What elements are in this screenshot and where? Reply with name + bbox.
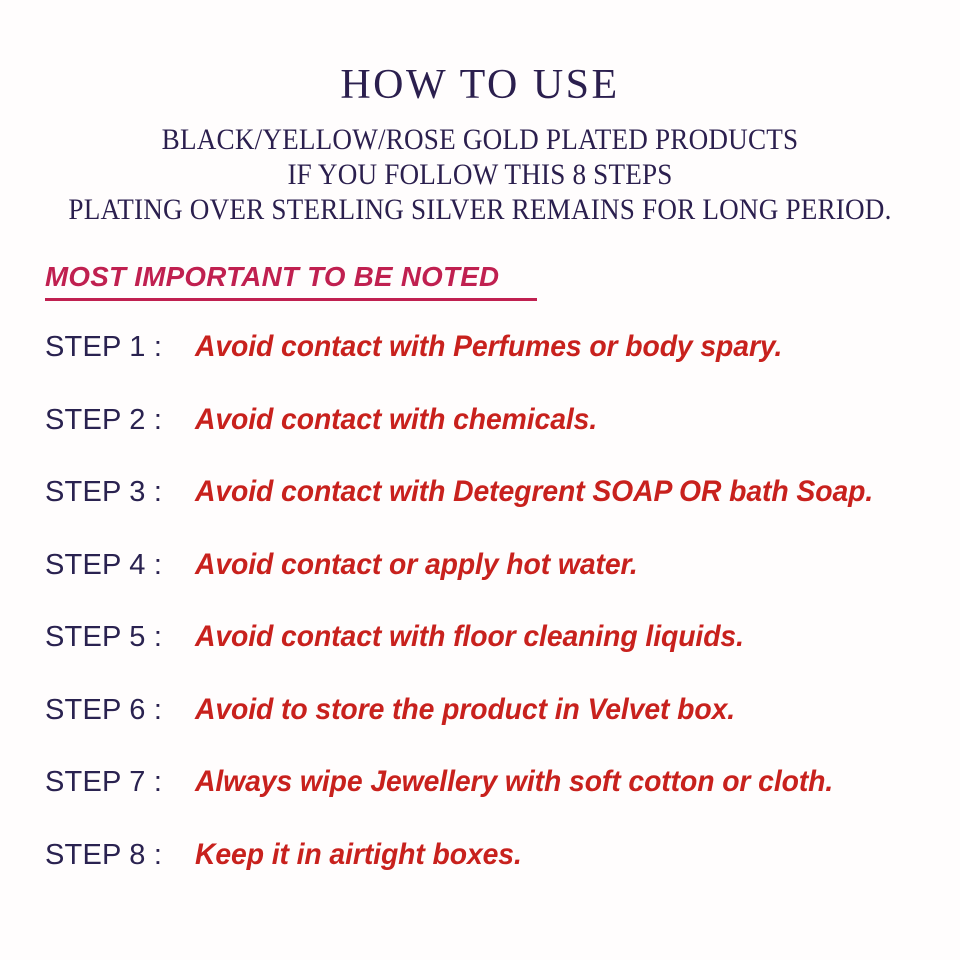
page-title: HOW TO USE: [0, 0, 960, 108]
subtitle-line-3: PLATING OVER STERLING SILVER REMAINS FOR…: [46, 192, 915, 227]
step-row: STEP 5 : Avoid contact with floor cleani…: [0, 620, 960, 693]
step-text: Avoid contact with floor cleaning liquid…: [195, 620, 744, 654]
step-row: STEP 7 : Always wipe Jewellery with soft…: [0, 765, 960, 838]
step-text: Always wipe Jewellery with soft cotton o…: [195, 765, 833, 799]
step-row: STEP 1 : Avoid contact with Perfumes or …: [0, 330, 960, 403]
step-label: STEP 3 :: [45, 475, 162, 509]
subtitle-line-1: BLACK/YELLOW/ROSE GOLD PLATED PRODUCTS: [46, 122, 915, 157]
step-text: Avoid contact with Detegrent SOAP OR bat…: [195, 475, 873, 509]
step-text: Avoid contact with chemicals.: [195, 403, 597, 437]
instruction-card: HOW TO USE BLACK/YELLOW/ROSE GOLD PLATED…: [0, 0, 960, 960]
step-text: Keep it in airtight boxes.: [195, 838, 522, 872]
subtitle-line-2: IF YOU FOLLOW THIS 8 STEPS: [46, 157, 915, 192]
step-label: STEP 7 :: [45, 765, 162, 799]
step-text: Avoid to store the product in Velvet box…: [195, 693, 735, 727]
step-label: STEP 6 :: [45, 693, 162, 727]
subtitle-block: BLACK/YELLOW/ROSE GOLD PLATED PRODUCTS I…: [0, 122, 960, 227]
step-label: STEP 2 :: [45, 403, 162, 437]
notice-heading: MOST IMPORTANT TO BE NOTED: [45, 262, 499, 292]
notice-heading-block: MOST IMPORTANT TO BE NOTED: [45, 262, 537, 301]
step-row: STEP 4 : Avoid contact or apply hot wate…: [0, 548, 960, 621]
notice-underline: [45, 298, 537, 301]
step-row: STEP 8 : Keep it in airtight boxes.: [0, 838, 960, 911]
step-row: STEP 3 : Avoid contact with Detegrent SO…: [0, 475, 960, 548]
step-label: STEP 1 :: [45, 330, 162, 364]
step-row: STEP 2 : Avoid contact with chemicals.: [0, 403, 960, 476]
step-text: Avoid contact with Perfumes or body spar…: [195, 330, 782, 364]
step-text: Avoid contact or apply hot water.: [195, 548, 638, 582]
step-row: STEP 6 : Avoid to store the product in V…: [0, 693, 960, 766]
step-label: STEP 4 :: [45, 548, 162, 582]
step-label: STEP 8 :: [45, 838, 162, 872]
steps-list: STEP 1 : Avoid contact with Perfumes or …: [0, 330, 960, 910]
header-block: HOW TO USE BLACK/YELLOW/ROSE GOLD PLATED…: [0, 0, 960, 227]
step-label: STEP 5 :: [45, 620, 162, 654]
